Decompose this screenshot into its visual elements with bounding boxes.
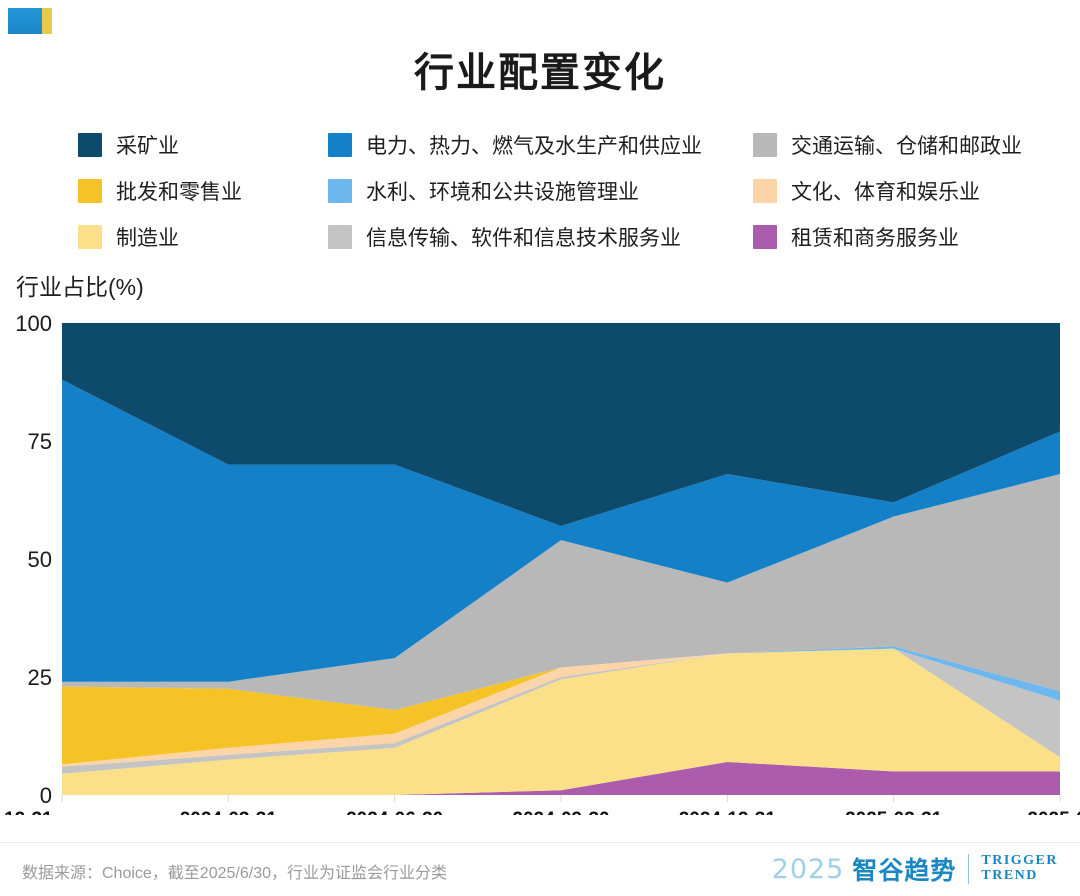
legend-item-transport[interactable]: 交通运输、仓储和邮政业 bbox=[753, 130, 1038, 160]
y-axis-tick-label: 25 bbox=[28, 665, 52, 690]
legend-label-utilities: 电力、热力、燃气及水生产和供应业 bbox=[366, 130, 702, 160]
chart-card: 行业配置变化 采矿业 电力、热力、燃气及水生产和供应业 交通运输、仓储和邮政业 … bbox=[0, 0, 1080, 895]
legend-label-mining: 采矿业 bbox=[116, 130, 179, 160]
legend-label-wholesale: 批发和零售业 bbox=[116, 176, 242, 206]
footer: 数据来源：Choice，截至2025/6/30，行业为证监会行业分类 2025 … bbox=[0, 842, 1080, 896]
legend-swatch-wholesale bbox=[78, 179, 102, 203]
x-axis-tick-label: 2025-03-31 bbox=[845, 809, 943, 815]
page-title: 行业配置变化 bbox=[0, 40, 1080, 98]
legend-row: 批发和零售业 水利、环境和公共设施管理业 文化、体育和娱乐业 bbox=[78, 168, 1038, 214]
legend-swatch-water-environment bbox=[328, 179, 352, 203]
legend-label-manufacturing: 制造业 bbox=[116, 222, 179, 252]
brand-en-line2: TREND bbox=[981, 869, 1058, 884]
plot-area: 2023-12-312024-03-312024-06-302024-09-30… bbox=[0, 305, 1080, 815]
legend-row: 制造业 信息传输、软件和信息技术服务业 租赁和商务服务业 bbox=[78, 214, 1038, 260]
x-axis-tick-label: 2024-06-30 bbox=[346, 809, 443, 815]
legend-item-manufacturing[interactable]: 制造业 bbox=[78, 222, 328, 252]
brand-name-cn: 智谷趋势 bbox=[852, 851, 956, 887]
legend-label-transport: 交通运输、仓储和邮政业 bbox=[791, 130, 1022, 160]
y-axis-tick-label: 50 bbox=[28, 547, 52, 572]
brand-logo: 2025 智谷趋势 TRIGGER TREND bbox=[772, 851, 1058, 887]
legend-label-infotech: 信息传输、软件和信息技术服务业 bbox=[366, 222, 681, 252]
legend-swatch-transport bbox=[753, 133, 777, 157]
y-axis-tick-label: 0 bbox=[40, 783, 52, 808]
brand-en-line1: TRIGGER bbox=[981, 854, 1058, 869]
brand-divider bbox=[968, 854, 969, 884]
area-chart: 2023-12-312024-03-312024-06-302024-09-30… bbox=[0, 305, 1080, 815]
legend-item-water-environment[interactable]: 水利、环境和公共设施管理业 bbox=[328, 176, 753, 206]
legend-swatch-infotech bbox=[328, 225, 352, 249]
legend-item-wholesale[interactable]: 批发和零售业 bbox=[78, 176, 328, 206]
legend-swatch-utilities bbox=[328, 133, 352, 157]
legend-item-infotech[interactable]: 信息传输、软件和信息技术服务业 bbox=[328, 222, 753, 252]
legend-swatch-manufacturing bbox=[78, 225, 102, 249]
legend-label-water-environment: 水利、环境和公共设施管理业 bbox=[366, 176, 639, 206]
legend-item-utilities[interactable]: 电力、热力、燃气及水生产和供应业 bbox=[328, 130, 753, 160]
corner-decoration bbox=[8, 8, 54, 34]
x-axis-tick-label: 2024-12-31 bbox=[679, 809, 777, 815]
legend-label-leasing: 租赁和商务服务业 bbox=[791, 222, 959, 252]
y-axis-title: 行业占比(%) bbox=[16, 268, 144, 302]
corner-blue-block bbox=[8, 8, 42, 34]
y-axis-tick-label: 75 bbox=[28, 429, 52, 454]
legend-item-culture-sports[interactable]: 文化、体育和娱乐业 bbox=[753, 176, 1038, 206]
brand-year: 2025 bbox=[772, 854, 845, 885]
legend-label-culture-sports: 文化、体育和娱乐业 bbox=[791, 176, 980, 206]
source-note: 数据来源：Choice，截至2025/6/30，行业为证监会行业分类 bbox=[22, 859, 447, 883]
legend-item-mining[interactable]: 采矿业 bbox=[78, 130, 328, 160]
legend-swatch-mining bbox=[78, 133, 102, 157]
chart-legend: 采矿业 电力、热力、燃气及水生产和供应业 交通运输、仓储和邮政业 批发和零售业 … bbox=[78, 122, 1038, 260]
legend-swatch-leasing bbox=[753, 225, 777, 249]
corner-yellow-block bbox=[42, 8, 52, 34]
x-axis-tick-label: 2024-09-30 bbox=[512, 809, 609, 815]
legend-row: 采矿业 电力、热力、燃气及水生产和供应业 交通运输、仓储和邮政业 bbox=[78, 122, 1038, 168]
brand-name-en: TRIGGER TREND bbox=[981, 854, 1058, 883]
legend-swatch-culture-sports bbox=[753, 179, 777, 203]
x-axis-tick-label: 2025-06-30 bbox=[1027, 809, 1080, 815]
y-axis-tick-label: 100 bbox=[15, 311, 52, 336]
x-axis-tick-label: 2023-12-31 bbox=[0, 809, 53, 815]
x-axis-tick-label: 2024-03-31 bbox=[180, 809, 278, 815]
legend-item-leasing[interactable]: 租赁和商务服务业 bbox=[753, 222, 1038, 252]
